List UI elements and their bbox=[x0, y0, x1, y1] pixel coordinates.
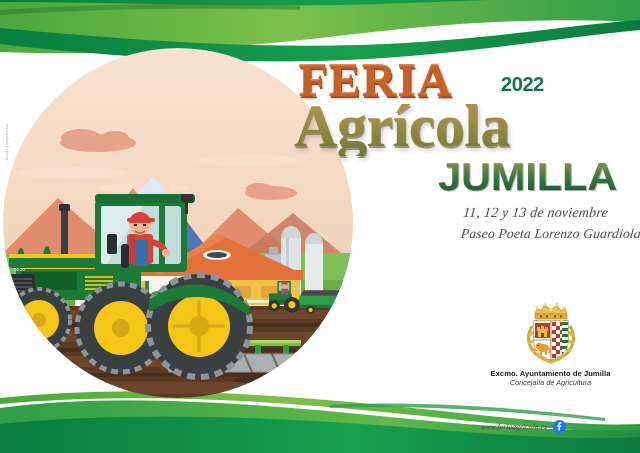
title-jumilla: JUMILLA bbox=[438, 158, 617, 197]
organizer-name: Excmo. Ayuntamiento de Jumilla bbox=[468, 369, 633, 378]
event-venue: Paseo Poeta Lorenzo Guardiola bbox=[460, 224, 640, 244]
side-credit-text: Diseño y maquetación bbox=[5, 50, 9, 160]
event-details: 11, 12 y 13 de noviembre Paseo Poeta Lor… bbox=[460, 204, 640, 244]
title-agricola: Agrícola bbox=[294, 96, 510, 156]
jumilla-coat-of-arms-icon bbox=[520, 300, 582, 366]
poster-canvas: Diseño y maquetación bbox=[0, 0, 640, 453]
event-dates: 11, 12 y 13 de noviembre bbox=[462, 204, 640, 224]
organizer-department: Concejalía de Agricultura bbox=[468, 378, 633, 387]
organizer-block: Excmo. Ayuntamiento de Jumilla Concejalí… bbox=[468, 300, 633, 400]
website-url[interactable]: www.feriaagricola.es bbox=[480, 422, 547, 431]
title-block: FERIA 2022 Agrícola JUMILLA 11, 12 y 13 … bbox=[292, 52, 632, 252]
website-block[interactable]: www.feriaagricola.es bbox=[481, 420, 566, 433]
facebook-icon[interactable] bbox=[553, 420, 566, 433]
